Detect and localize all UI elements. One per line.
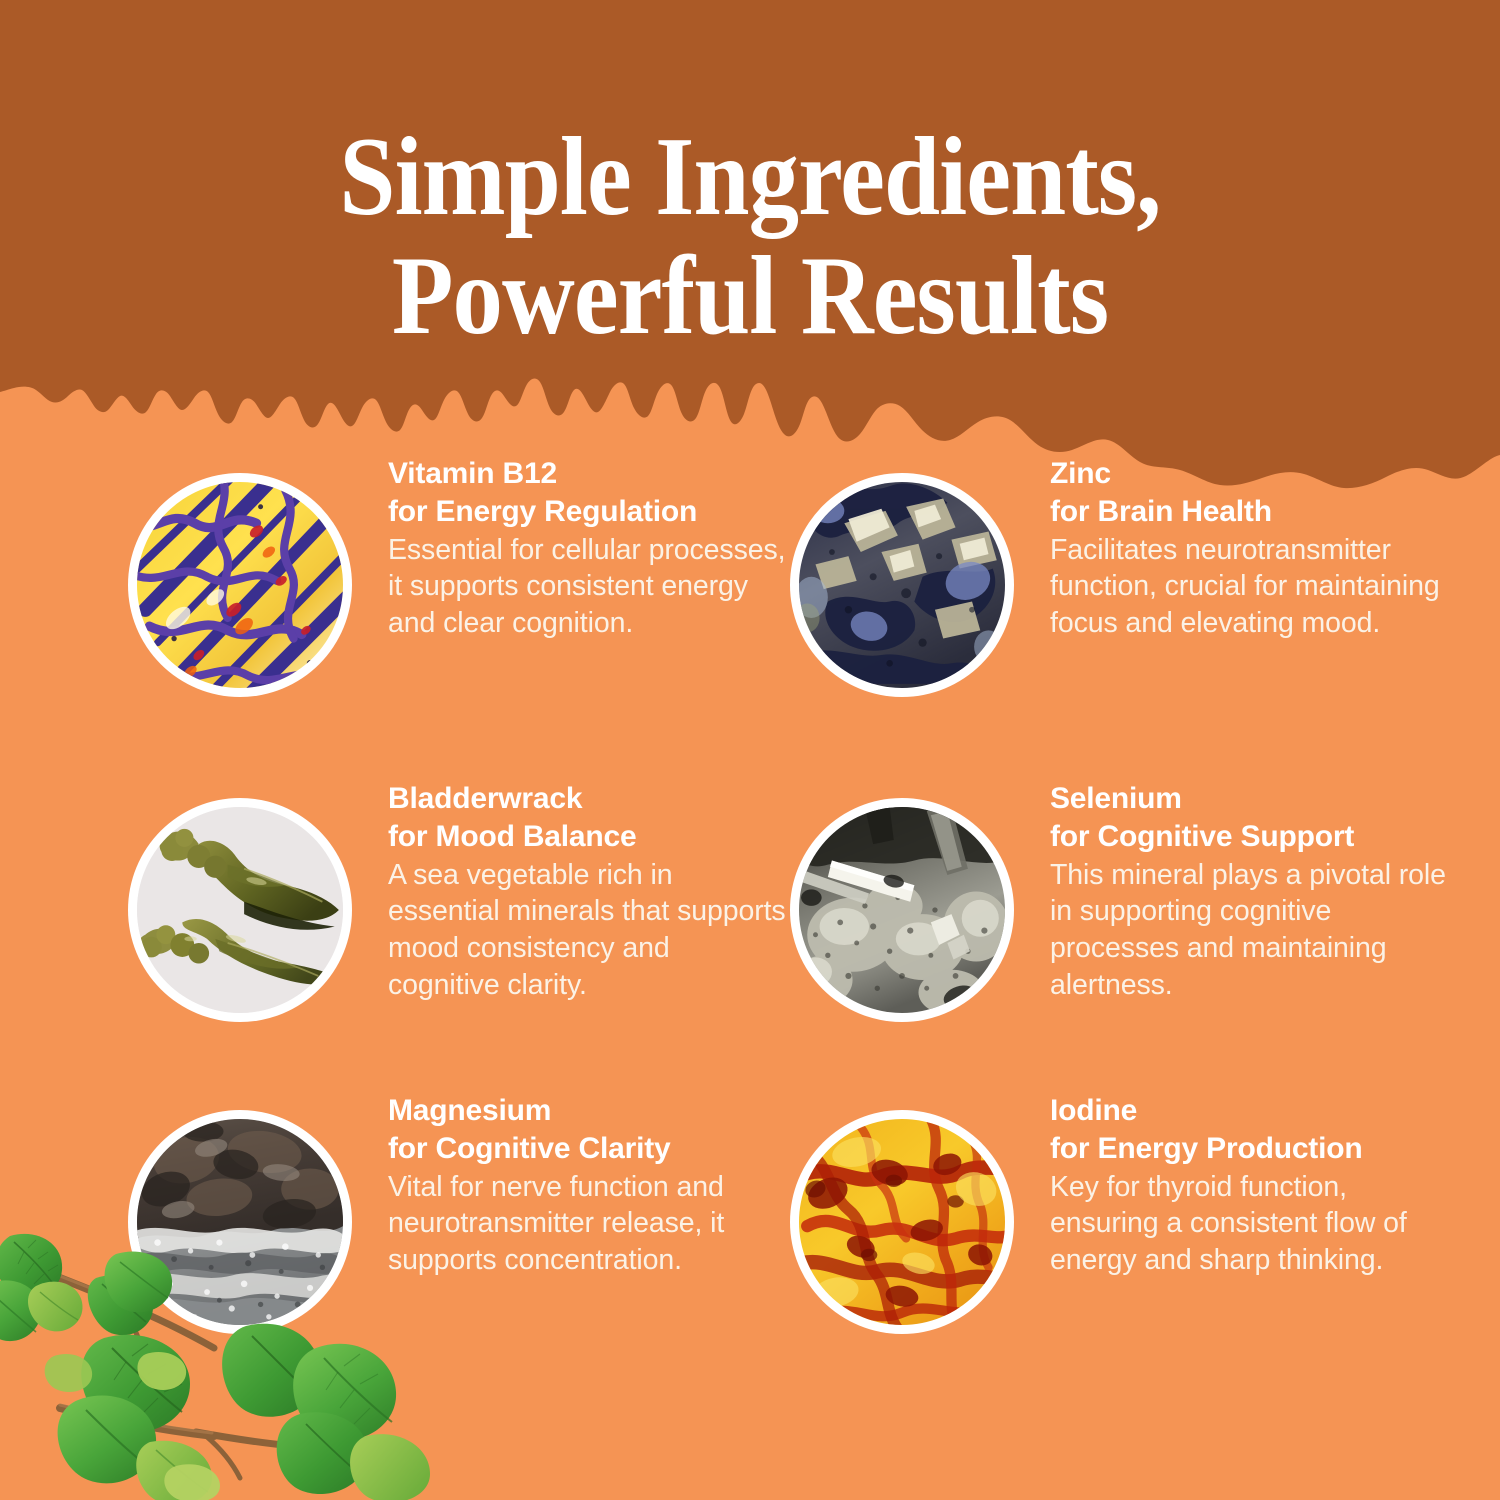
ingredient-name: Selenium [1050, 780, 1450, 818]
ingredient-benefit: for Energy Production [1050, 1130, 1450, 1168]
ingredient-thumbnail-ring [790, 1110, 1014, 1334]
ingredient-card-bladderwrack: Bladderwrack for Mood Balance A sea vege… [128, 780, 788, 1022]
ingredient-thumbnail-ring [128, 473, 352, 697]
selenium-crystal-mineral-icon [799, 807, 1005, 1013]
ingredient-description: This mineral plays a pivotal role in sup… [1050, 857, 1450, 1004]
ingredient-description: Key for thyroid function, ensuring a con… [1050, 1169, 1450, 1279]
ingredient-benefit: for Mood Balance [388, 818, 788, 856]
ingredient-text-block: Zinc for Brain Health Facilitates neurot… [1050, 455, 1450, 642]
ingredient-thumbnail-ring [790, 798, 1014, 1022]
ingredient-description: A sea vegetable rich in essential minera… [388, 857, 788, 1004]
ingredient-name: Magnesium [388, 1092, 788, 1130]
ingredient-benefit: for Brain Health [1050, 493, 1450, 531]
ingredient-name: Vitamin B12 [388, 455, 788, 493]
ingredient-text-block: Selenium for Cognitive Support This mine… [1050, 780, 1450, 1004]
ingredient-description: Facilitates neurotransmitter function, c… [1050, 532, 1450, 642]
ingredient-card-zinc: Zinc for Brain Health Facilitates neurot… [790, 455, 1450, 697]
ingredient-name: Zinc [1050, 455, 1450, 493]
infographic-poster: Simple Ingredients, Powerful Results [0, 0, 1500, 1500]
ingredient-text-block: Vitamin B12 for Energy Regulation Essent… [388, 455, 788, 642]
ingredient-description: Vital for nerve function and neurotransm… [388, 1169, 788, 1279]
ingredient-benefit: for Energy Regulation [388, 493, 788, 531]
ingredient-description: Essential for cellular processes, it sup… [388, 532, 788, 642]
ingredient-card-iodine: Iodine for Energy Production Key for thy… [790, 1092, 1450, 1334]
ingredient-thumbnail-ring [128, 798, 352, 1022]
ingredient-name: Bladderwrack [388, 780, 788, 818]
ingredient-text-block: Iodine for Energy Production Key for thy… [1050, 1092, 1450, 1279]
ingredient-name: Iodine [1050, 1092, 1450, 1130]
ingredient-benefit: for Cognitive Clarity [388, 1130, 788, 1168]
ingredient-card-vitamin-b12: Vitamin B12 for Energy Regulation Essent… [128, 455, 788, 697]
foliage-decoration [0, 1230, 430, 1500]
zinc-mineral-ore-icon [799, 482, 1005, 688]
ingredient-text-block: Magnesium for Cognitive Clarity Vital fo… [388, 1092, 788, 1279]
ingredient-card-selenium: Selenium for Cognitive Support This mine… [790, 780, 1450, 1022]
vitamin-b12-crystal-micrograph-icon [137, 482, 343, 688]
ingredient-benefit: for Cognitive Support [1050, 818, 1450, 856]
green-leafy-branch-icon [0, 1230, 430, 1500]
ingredient-text-block: Bladderwrack for Mood Balance A sea vege… [388, 780, 788, 1004]
iodine-swirl-liquid-icon [799, 1119, 1005, 1325]
ingredient-thumbnail-ring [790, 473, 1014, 697]
bladderwrack-seaweed-icon [137, 807, 343, 1013]
